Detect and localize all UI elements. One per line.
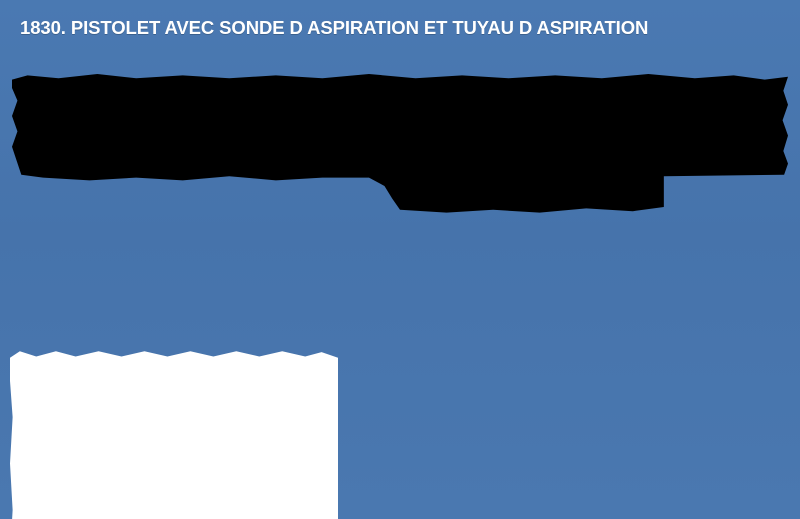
illustration-panel xyxy=(10,350,338,519)
page-title: 1830. PISTOLET AVEC SONDE D ASPIRATION E… xyxy=(20,17,800,39)
redacted-description-block xyxy=(12,74,788,214)
page-root: 1830. PISTOLET AVEC SONDE D ASPIRATION E… xyxy=(0,0,800,519)
